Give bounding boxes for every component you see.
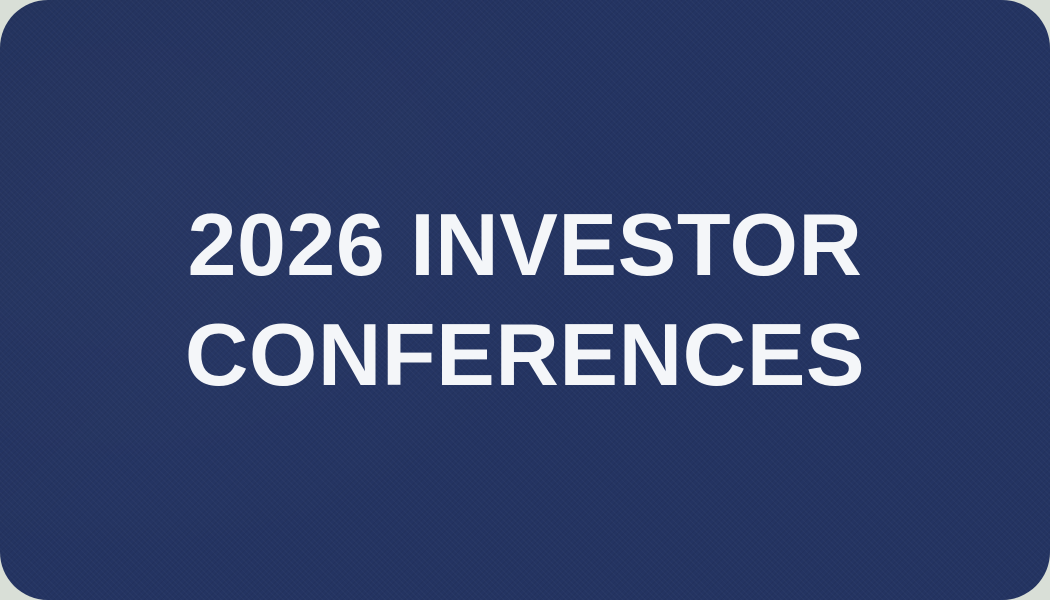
page-title: 2026 INVESTOR CONFERENCES [185, 190, 865, 410]
investor-conferences-hero-card: 2026 INVESTOR CONFERENCES [0, 0, 1050, 600]
page-title-line-1: 2026 INVESTOR [185, 190, 865, 300]
page-title-line-2: CONFERENCES [185, 300, 865, 410]
